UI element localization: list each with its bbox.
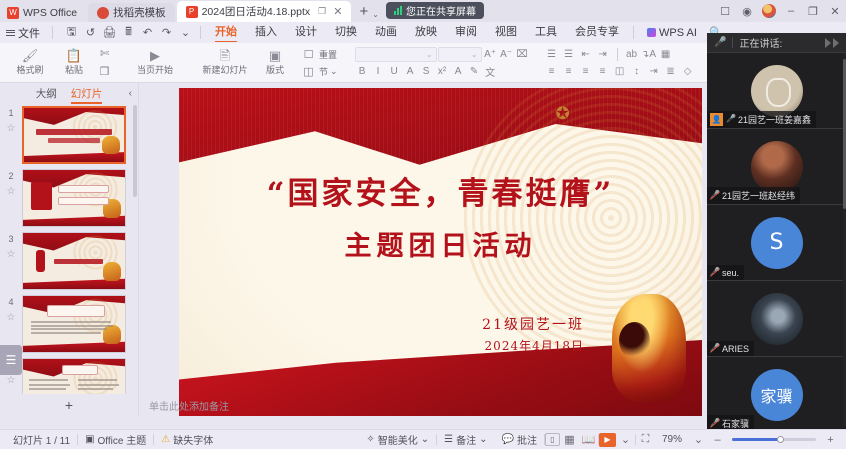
fit-to-window-icon[interactable]: ⛶ (636, 432, 655, 448)
participant-name-bar: 👤 21园艺一班姜嘉鑫 (707, 111, 816, 128)
play-options-caret-icon[interactable]: ⌄ (616, 432, 635, 448)
participant-tile[interactable]: 👤 21园艺一班姜嘉鑫 (707, 53, 846, 129)
minimize-button[interactable]: – (780, 0, 802, 22)
mini-subtitle-line (48, 138, 100, 143)
play-button[interactable]: ▶ (599, 433, 616, 447)
participant-name: ARIES (722, 344, 749, 354)
reset-button[interactable]: ☐ 重置 (297, 47, 341, 62)
slide-date[interactable]: 2024年4月18日 (485, 337, 584, 354)
slide-canvas[interactable]: ✪ “国家安全，青春挺膺” 主题团日活动 21级园艺一班 2024年4月18日 (179, 88, 702, 416)
divider (52, 26, 53, 39)
wps-office-home-tab[interactable]: W WPS Office (0, 3, 86, 22)
wps-ai-button[interactable]: WPS AI (639, 27, 705, 39)
star-icon[interactable]: ☆ (7, 249, 16, 260)
thumbnail-slide-3[interactable] (22, 232, 126, 290)
smart-art-button[interactable]: ▦ (658, 47, 674, 61)
thumbnail-number: 3 (8, 234, 13, 244)
slide-subtitle[interactable]: 主题团日活动 (179, 224, 702, 263)
columns-button[interactable]: ◫ (612, 64, 628, 78)
reading-view-icon[interactable]: 📖 (579, 432, 598, 448)
notes-icon: ☰ (444, 434, 453, 445)
missing-font-button[interactable]: ⚠ 缺失字体 (154, 432, 220, 447)
mini-lion (103, 262, 121, 281)
reset-label: 重置 (319, 48, 337, 61)
microphone-muted-icon (710, 190, 719, 201)
avatar (751, 141, 803, 193)
participant-tile[interactable]: S seu. (707, 205, 846, 281)
host-badge-icon: 👤 (710, 113, 723, 126)
file-menu-label: 文件 (18, 25, 40, 41)
speaking-label: 正在讲话: (739, 35, 782, 50)
star-icon[interactable]: ☆ (7, 312, 16, 323)
star-icon: ✪ (556, 104, 570, 124)
section-label: 节 (319, 65, 328, 78)
theme-icon: ▣ (85, 434, 94, 445)
save-icon[interactable]: 🖫 (62, 23, 81, 42)
document-tab-label: 2024团日活动4.18.pptx (202, 4, 311, 19)
layout-label: 版式 (266, 63, 284, 76)
add-slide-button[interactable]: + (0, 394, 138, 416)
wps-office-label: WPS Office (23, 7, 77, 19)
list-item[interactable]: 3 ☆ (0, 229, 138, 292)
slide-organization[interactable]: 21级园艺一班 (482, 314, 584, 334)
beautify-button[interactable]: ✧ 智能美化 ⌄ (359, 432, 436, 447)
grow-font-icon[interactable]: A⁺ (483, 47, 498, 61)
docer-icon (97, 7, 109, 19)
slide-lion-decoration (612, 294, 686, 402)
font-controls: ⌄ ⌄ A⁺ A⁻ ⌧ B I U A S x² A ✎ 文 (355, 44, 530, 82)
window-controls: ☐ ◉ – ❐ ✕ (714, 0, 846, 22)
slide-group: 🖹 新建幻灯片 ▣ 版式 ☐ 重置 ◫ 节 ⌄ (193, 43, 345, 83)
align-left-button[interactable]: ≡ (544, 64, 560, 78)
notes-caret-icon[interactable]: ⌄ (479, 434, 487, 445)
restore-button[interactable]: ❐ (802, 0, 824, 22)
tab-insert[interactable]: 插入 (246, 22, 286, 43)
participant-name-bar: ARIES (707, 341, 754, 356)
wps-logo-icon: W (7, 7, 19, 19)
status-bar: 幻灯片 1 / 11 ▣ Office 主题 ⚠ 缺失字体 ✧ 智能美化 ⌄ ☰… (0, 429, 846, 449)
missing-font-label: 缺失字体 (173, 432, 213, 447)
avatar (751, 65, 803, 117)
mini-section-badge (36, 250, 45, 272)
tab-member-exclusive[interactable]: 会员专享 (566, 22, 628, 43)
avatar: S (751, 217, 803, 269)
search-doc-icon[interactable]: ↺ (81, 23, 100, 42)
char-style-button[interactable]: 文 (483, 65, 498, 79)
slide-sorter-icon[interactable]: ▦ (560, 432, 579, 448)
font-size-select[interactable]: ⌄ (438, 47, 482, 62)
microphone-muted-icon (710, 418, 719, 429)
italic-button[interactable]: I (371, 65, 386, 79)
paragraph-line-1: ☰ ☰ ⇤ ⇥ ab ↴A ▦ (544, 47, 696, 61)
paragraph-line-2: ≡ ≡ ≡ ≡ ◫ ↕ ⇥ ≣ ◇ (544, 64, 696, 78)
mini-text-line (31, 321, 111, 323)
slide-thumbnail-panel: 大纲 幻灯片 ‹ 1 ☆ (0, 83, 139, 416)
list-item[interactable]: 1 ☆ (0, 103, 138, 166)
theme-label: Office 主题 (98, 432, 147, 447)
panel-tabs: 大纲 幻灯片 ‹ (0, 83, 138, 103)
bold-button[interactable]: B (355, 65, 370, 79)
undo-icon[interactable]: ↶ (138, 23, 157, 42)
microphone-icon (726, 114, 735, 125)
paragraph-controls: ☰ ☰ ⇤ ⇥ ab ↴A ▦ ≡ ≡ ≡ ≡ ◫ ↕ ⇥ ≣ (544, 44, 696, 82)
mini-text-line (29, 388, 66, 390)
play-circle-icon: ▶ (150, 49, 160, 62)
thumbnail-meta: 4 ☆ (0, 295, 22, 323)
panel-view-toggle-button[interactable]: ☰ (0, 345, 22, 375)
participant-name: seu. (722, 268, 739, 278)
mini-toc-badge (31, 182, 51, 210)
tab-slideshow[interactable]: 放映 (406, 22, 446, 43)
avatar[interactable] (758, 0, 780, 22)
file-menu-button[interactable]: 文件 (0, 25, 47, 41)
thumbnail-slide-2[interactable] (22, 169, 126, 227)
slide-counter: 幻灯片 1 / 11 (6, 432, 77, 447)
microphone-icon[interactable]: 🎤 (714, 37, 726, 48)
redo-icon[interactable]: ↷ (157, 23, 176, 42)
font-line-2: B I U A S x² A ✎ 文 (355, 65, 530, 79)
current-page-start-button[interactable]: ▶ 当页开始 (127, 44, 183, 82)
star-icon[interactable]: ☆ (7, 186, 16, 197)
customize-qat-icon[interactable]: ⌄ (176, 23, 195, 42)
paste-button[interactable]: 📋 粘贴 (52, 44, 96, 82)
close-button[interactable]: ✕ (824, 0, 846, 22)
copy-icon[interactable]: ❐ (96, 64, 113, 80)
thumbnail-scrollbar[interactable] (133, 105, 137, 392)
beautify-icon: ✧ (366, 434, 374, 445)
participant-tile[interactable]: 家骥 石家骥 (707, 357, 846, 433)
mini-text-line (78, 379, 117, 381)
layout-button[interactable]: ▣ 版式 (253, 44, 297, 82)
zoom-preset-caret-icon[interactable]: ⌄ (689, 432, 708, 448)
new-slide-icon: 🖹 (220, 49, 230, 62)
align-right-button[interactable]: ≡ (578, 64, 594, 78)
font-color-button[interactable]: A (451, 65, 466, 79)
highlight-button[interactable]: ✎ (467, 65, 482, 79)
align-center-button[interactable]: ≡ (561, 64, 577, 78)
thumbnail-number: 2 (8, 171, 13, 181)
mini-text-line (31, 325, 113, 327)
screen-share-text: 您正在共享屏幕 (406, 3, 476, 18)
decrease-indent-button[interactable]: ⇤ (578, 47, 594, 61)
notes-button[interactable]: ☰ 备注 ⌄ (437, 432, 494, 447)
mini-lion (102, 136, 120, 154)
current-page-start-label: 当页开始 (137, 63, 173, 76)
superscript-button[interactable]: x² (435, 65, 450, 79)
tab-review[interactable]: 审阅 (446, 22, 486, 43)
paragraph-spacing-button[interactable]: ↕ (629, 64, 645, 78)
tab-restore-icon[interactable]: ❐ (318, 6, 326, 17)
mini-text-line (29, 384, 70, 386)
comments-label: 批注 (517, 432, 537, 447)
window-tab-strip: W WPS Office 找稻壳模板 P 2024团日活动4.18.pptx ❐… (0, 0, 385, 22)
convert-smartart-button[interactable]: ◇ (680, 64, 696, 78)
tab-home[interactable]: 开始 (206, 22, 246, 43)
notes-label: 备注 (456, 432, 476, 447)
section-caret-icon[interactable]: ⌄ (330, 66, 338, 77)
slide-title[interactable]: “国家安全，青春挺膺” (179, 168, 702, 213)
tab-slides[interactable]: 幻灯片 (71, 86, 103, 101)
format-painter-button[interactable]: 🖌 格式刷 (8, 44, 52, 82)
new-slide-label: 新建幻灯片 (202, 63, 247, 76)
divider (732, 37, 733, 48)
slide-editor-stage: ✪ “国家安全，青春挺膺” 主题团日活动 21级园艺一班 2024年4月18日 … (139, 83, 707, 416)
justify-button[interactable]: ≡ (595, 64, 611, 78)
microphone-muted-icon (710, 343, 719, 354)
mini-heading-box (62, 365, 99, 375)
increase-indent-button[interactable]: ⇥ (595, 47, 611, 61)
tab-overflow-icon[interactable]: ⌄ (372, 10, 385, 22)
zoom-slider[interactable] (732, 438, 816, 441)
wps-ai-icon (647, 28, 656, 37)
paragraph-group: ☰ ☰ ⇤ ⇥ ab ↴A ▦ ≡ ≡ ≡ ≡ ◫ ↕ ⇥ ≣ (540, 43, 700, 83)
mini-toc-row (58, 197, 109, 205)
participant-name: 21园艺一班赵经纬 (722, 189, 795, 202)
docer-tab-label: 找稻壳模板 (113, 5, 166, 20)
mini-text-line (78, 388, 113, 390)
tab-transitions[interactable]: 切换 (326, 22, 366, 43)
tab-animations[interactable]: 动画 (366, 22, 406, 43)
underline-button[interactable]: U (387, 65, 402, 79)
mini-heading-box (47, 305, 104, 317)
chevron-left-icon[interactable]: ‹ (129, 88, 132, 99)
paste-label: 粘贴 (65, 63, 83, 76)
layout-icon: ▣ (269, 49, 281, 62)
quick-access-toolbar: 🖫 ↺ 🖨 🖩 ↶ ↷ ⌄ (58, 23, 195, 42)
mini-text-line (78, 384, 119, 386)
warning-icon: ⚠ (161, 434, 170, 445)
ppt-icon: P (186, 6, 198, 18)
mini-toc-row (58, 185, 109, 193)
sidebar-toggle-icon[interactable]: ☐ (714, 0, 736, 22)
zoom-out-button[interactable]: – (708, 432, 727, 448)
format-painter-icon: 🖌 (22, 49, 39, 62)
font-family-select[interactable]: ⌄ (355, 47, 437, 62)
new-slide-button[interactable]: 🖹 新建幻灯片 (197, 44, 253, 82)
title-bar: W WPS Office 找稻壳模板 P 2024团日活动4.18.pptx ❐… (0, 0, 846, 22)
microphone-muted-icon (710, 267, 719, 278)
thumbnail-number: 4 (8, 297, 13, 307)
reset-section-column: ☐ 重置 ◫ 节 ⌄ (297, 44, 341, 82)
print-preview-icon[interactable]: 🖩 (119, 23, 138, 42)
participant-name-bar: seu. (707, 265, 744, 280)
mini-text-line (31, 332, 100, 334)
theme-button[interactable]: ▣ Office 主题 (78, 432, 153, 447)
docer-template-tab[interactable]: 找稻壳模板 (88, 3, 175, 22)
divider (633, 26, 634, 39)
clipboard-group: 🖌 格式刷 📋 粘贴 ✄ ❐ (4, 43, 117, 83)
star-icon[interactable]: ☆ (7, 375, 16, 386)
divider (617, 48, 618, 61)
document-tab-pptx[interactable]: P 2024团日活动4.18.pptx ❐ ✕ (177, 1, 352, 22)
thumbnail-meta: 1 ☆ (0, 106, 22, 134)
text-direction-button[interactable]: ↴A (641, 47, 657, 61)
star-icon[interactable]: ☆ (7, 123, 16, 134)
beautify-label: 智能美化 (378, 432, 418, 447)
paste-icon: 📋 (66, 49, 82, 62)
participant-tile[interactable]: ARIES (707, 281, 846, 357)
zoom-level[interactable]: 79% (655, 434, 689, 445)
tab-tools[interactable]: 工具 (526, 22, 566, 43)
tab-close-icon[interactable]: ✕ (333, 5, 342, 18)
section-icon: ◫ (300, 63, 317, 79)
beautify-caret-icon[interactable]: ⌄ (421, 434, 429, 445)
list-level-button[interactable]: ≣ (663, 64, 679, 78)
screen-share-notice: 您正在共享屏幕 (386, 2, 484, 19)
print-icon[interactable]: 🖨 (100, 23, 119, 42)
globe-icon[interactable]: ◉ (736, 0, 758, 22)
new-tab-button[interactable]: + (353, 2, 372, 22)
format-painter-label: 格式刷 (16, 63, 43, 76)
cut-icon[interactable]: ✄ (96, 46, 113, 62)
collapse-panel-icon[interactable] (825, 38, 839, 48)
tab-outline[interactable]: 大纲 (36, 86, 57, 101)
font-group: ⌄ ⌄ A⁺ A⁻ ⌧ B I U A S x² A ✎ 文 (351, 43, 534, 83)
wps-ai-label: WPS AI (659, 27, 697, 39)
meeting-panel-header: 🎤 正在讲话: (707, 33, 846, 53)
mini-text-line (29, 379, 68, 381)
menu-icon (6, 28, 15, 37)
zoom-in-button[interactable]: + (821, 432, 840, 448)
text-effect-button[interactable]: A (403, 65, 418, 79)
notes-pane[interactable]: 单击此处添加备注 (139, 394, 707, 416)
bullets-button[interactable]: ☰ (544, 47, 560, 61)
normal-view-icon[interactable]: ▯ (545, 433, 560, 446)
participant-name: 21园艺一班姜嘉鑫 (738, 113, 811, 126)
start-group: ▶ 当页开始 (123, 43, 187, 83)
divider (200, 26, 201, 39)
numbering-button[interactable]: ☰ (561, 47, 577, 61)
avatar (751, 293, 803, 345)
indent-level-button[interactable]: ⇥ (646, 64, 662, 78)
mini-section-text (54, 259, 103, 264)
signal-bars-icon (394, 6, 402, 15)
mini-title-line (36, 129, 112, 135)
thumbnail-meta: 3 ☆ (0, 232, 22, 260)
shrink-font-icon[interactable]: A⁻ (499, 47, 514, 61)
participant-tile[interactable]: 21园艺一班赵经纬 (707, 129, 846, 205)
cut-copy-column: ✄ ❐ (96, 44, 113, 82)
thumbnail-slide-5[interactable] (22, 358, 126, 394)
line-spacing-button[interactable]: ab (624, 47, 640, 61)
participant-name-bar: 21园艺一班赵经纬 (707, 187, 800, 204)
mini-text-line (31, 328, 106, 330)
list-item[interactable]: 2 ☆ (0, 166, 138, 229)
tab-view[interactable]: 视图 (486, 22, 526, 43)
status-right-controls: ✧ 智能美化 ⌄ ☰ 备注 ⌄ 💬 批注 ▯ ▦ 📖 ▶ ⌄ ⛶ 79% (359, 432, 846, 448)
thumbnail-number: 1 (8, 108, 13, 118)
section-button[interactable]: ◫ 节 ⌄ (297, 64, 341, 79)
clear-format-icon[interactable]: ⌧ (515, 47, 530, 61)
comments-button[interactable]: 💬 批注 (495, 432, 544, 447)
reset-icon: ☐ (300, 46, 317, 62)
tab-design[interactable]: 设计 (286, 22, 326, 43)
thumbnail-slide-4[interactable] (22, 295, 126, 353)
thumbnail-slide-1[interactable] (22, 106, 126, 164)
font-line-1: ⌄ ⌄ A⁺ A⁻ ⌧ (355, 47, 530, 62)
meeting-participants-panel: 🎤 正在讲话: 👤 21园艺一班姜嘉鑫 21园艺一班赵经纬 S (707, 33, 846, 426)
avatar: 家骥 (751, 369, 803, 421)
thumbnail-meta: 2 ☆ (0, 169, 22, 197)
strikethrough-button[interactable]: S (419, 65, 434, 79)
comment-icon: 💬 (502, 434, 514, 445)
